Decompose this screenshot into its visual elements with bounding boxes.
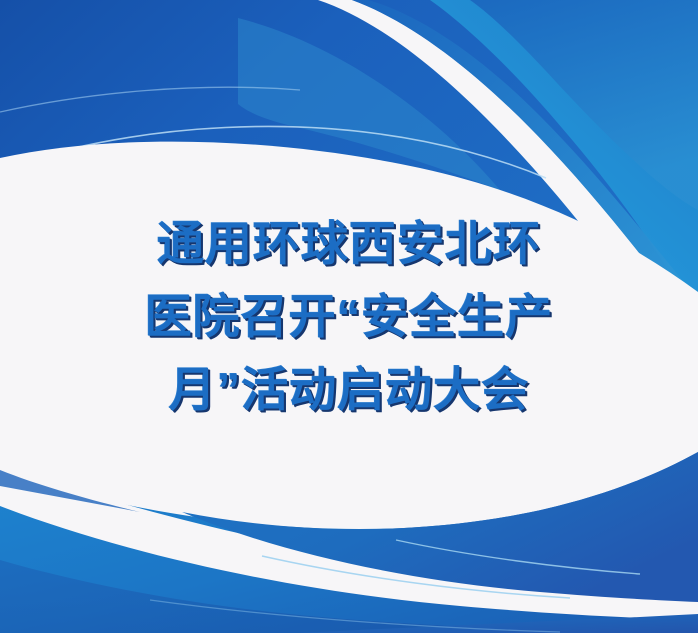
decorative-background-graphic (0, 0, 698, 633)
poster-canvas: 通用环球西安北环 医院召开“安全生产 月”活动启动大会 (0, 0, 698, 633)
